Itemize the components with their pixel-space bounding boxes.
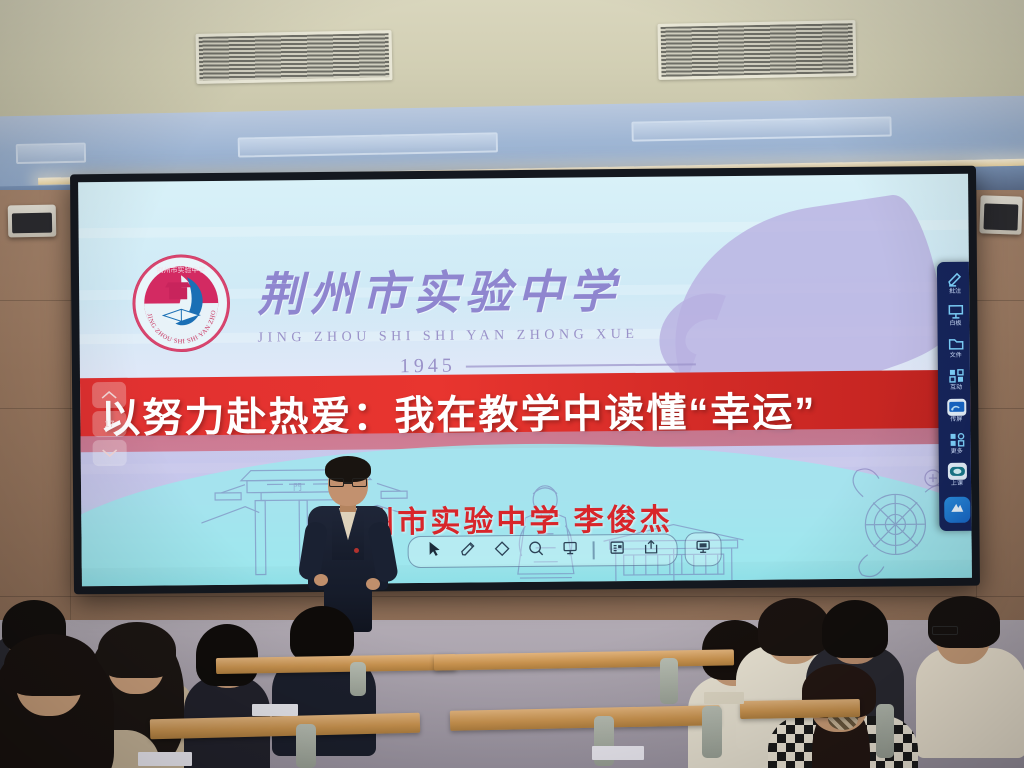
seat-frame (702, 706, 722, 758)
notebook (138, 752, 192, 766)
toolbar-label: 文件 (950, 353, 962, 360)
toolbar-item-whiteboard[interactable]: 白板 (938, 300, 972, 330)
toolbar-label: 白板 (949, 321, 961, 328)
whiteboard-icon (946, 303, 965, 320)
speaker-grille (983, 203, 1018, 230)
cursor-arrow-icon (424, 540, 443, 564)
action-share-export-button[interactable] (636, 539, 666, 561)
screen-off-button[interactable] (684, 532, 721, 566)
share-export-icon (642, 538, 661, 562)
notebook (704, 692, 744, 704)
notebook (252, 704, 298, 716)
toolbar-label: 更多 (951, 449, 963, 456)
eraser-icon (492, 539, 511, 563)
prev-slide-button[interactable] (92, 382, 126, 408)
courseware-right-toolbar[interactable]: 批注 白板 文件 (937, 262, 972, 531)
wall-speaker-right (979, 195, 1022, 234)
air-vent-grille (196, 30, 393, 84)
school-name-lockup: 荆州市实验中学 JING ZHOU SHI SHI YAN ZHONG XUE (257, 255, 639, 347)
toolbar-label: 上课 (951, 481, 963, 488)
year-rule (466, 363, 696, 367)
tool-spotlight-button[interactable] (555, 539, 585, 561)
more-grid-icon (947, 431, 966, 448)
toolbar-item-file[interactable]: 文件 (939, 332, 972, 362)
presenter-glasses (329, 478, 367, 487)
wall-speaker-left (8, 205, 57, 238)
toolbar-label: 传屏 (950, 417, 962, 424)
slide-list-icon (608, 538, 627, 562)
seat-frame (660, 658, 678, 704)
seat-frame (350, 662, 366, 696)
presenter-badge (354, 548, 359, 553)
app-logo-icon (949, 500, 965, 519)
toolbar-label: 批注 (949, 289, 961, 296)
monitor-icon (560, 538, 579, 562)
seat-frame (296, 724, 316, 768)
tool-pen-button[interactable] (453, 540, 483, 562)
presenter-hand-left (314, 574, 328, 586)
pen-icon (458, 539, 477, 563)
audience (0, 596, 1024, 768)
pen-annotate-icon (945, 271, 964, 288)
folder-file-icon (946, 335, 965, 352)
school-name-pinyin: JING ZHOU SHI SHI YAN ZHONG XUE (258, 327, 639, 347)
bronze-vessel-lineart (833, 462, 954, 583)
presenter-hand-right (366, 578, 380, 590)
toolbar-item-more[interactable]: 更多 (939, 428, 971, 458)
tool-cursor-button[interactable] (419, 541, 449, 563)
eyeglasses (932, 626, 958, 635)
toolbar-label: 互动 (950, 385, 962, 392)
screen-cast-icon (947, 399, 966, 416)
courseware-brand-button[interactable] (944, 497, 970, 523)
bottom-toolbar-group[interactable] (407, 534, 677, 569)
lecture-desk (740, 699, 860, 719)
interaction-blocks-icon (946, 367, 965, 384)
school-name-cn: 荆州市实验中学 (257, 255, 638, 325)
toolbar-item-annotate[interactable]: 批注 (938, 268, 972, 298)
tool-magnifier-button[interactable] (521, 540, 551, 562)
courseware-bottom-toolbar[interactable] (407, 532, 721, 569)
tool-eraser-button[interactable] (487, 540, 517, 562)
slide-indicator[interactable]: 17 (92, 411, 126, 437)
svg-text:荆州市实验中学: 荆州市实验中学 (156, 265, 205, 274)
screen-off-icon (693, 537, 712, 561)
action-slide-list-button[interactable] (602, 539, 632, 561)
speaker-grille (12, 213, 52, 234)
lecture-desk (434, 649, 734, 670)
ceiling-panel (238, 132, 498, 157)
lecture-hall-scene: 荆州市实验中学 JING ZHOU SHI SHI YAN ZHONG XUE … (0, 0, 1024, 768)
lecture-desk (450, 705, 720, 731)
toolbar-divider (593, 541, 595, 559)
toolbar-item-screencast[interactable]: 传屏 (939, 396, 972, 426)
school-logo: 荆州市实验中学 JING ZHOU SHI SHI YAN ZHONG XUE (131, 253, 232, 354)
ceiling-panel (16, 143, 86, 164)
toolbar-item-start-class[interactable]: 上课 (940, 460, 972, 490)
next-slide-button[interactable] (93, 440, 127, 466)
toolbar-item-interaction[interactable]: 互动 (939, 364, 972, 394)
air-vent-grille (657, 20, 856, 80)
lecture-desk (216, 654, 456, 674)
magnifier-icon (526, 539, 545, 563)
led-display-bezel: 荆州市实验中学 JING ZHOU SHI SHI YAN ZHONG XUE … (70, 166, 980, 595)
notebook (592, 746, 644, 760)
ceiling-panel (631, 116, 891, 141)
start-class-icon (947, 463, 966, 480)
slide-navigation[interactable]: 17 (92, 382, 127, 469)
seat-frame (876, 704, 894, 758)
presentation-slide[interactable]: 荆州市实验中学 JING ZHOU SHI SHI YAN ZHONG XUE … (78, 174, 972, 587)
